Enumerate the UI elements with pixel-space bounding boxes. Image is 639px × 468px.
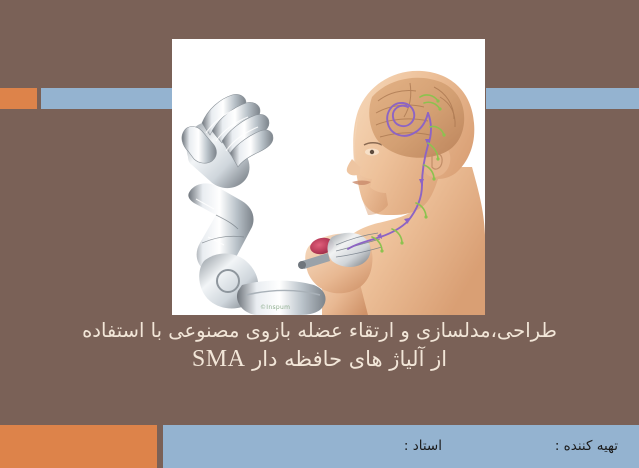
presenter-label: تهیه کننده : [555, 438, 618, 454]
title-line-2-text: از آلیاژ های حافظه دار [252, 347, 447, 371]
footer-credits: تهیه کننده : استاد : [163, 425, 639, 468]
title-acronym-sma: SMA [192, 346, 246, 372]
slide-title: طراحی،مدلسازی و ارتقاء عضله بازوی مصنوعی… [0, 318, 639, 375]
top-accent-blue-bar-left [41, 88, 172, 109]
advisor-label: استاد : [404, 438, 442, 454]
bottom-accent-orange-block [0, 425, 157, 468]
top-accent-blue-bar-right [486, 88, 639, 109]
top-accent-orange-block [0, 88, 37, 109]
title-line-1: طراحی،مدلسازی و ارتقاء عضله بازوی مصنوعی… [0, 318, 639, 344]
title-line-2: از آلیاژ های حافظه دار SMA [0, 344, 639, 376]
image-credit: ©Inspum [260, 304, 290, 311]
slide-image: ©Inspum [172, 39, 485, 315]
presentation-slide: ©Inspum طراحی،مدلسازی و ارتقاء عضله بازو… [0, 0, 639, 468]
prosthetic-arm-neural-interface-illustration [172, 39, 485, 315]
